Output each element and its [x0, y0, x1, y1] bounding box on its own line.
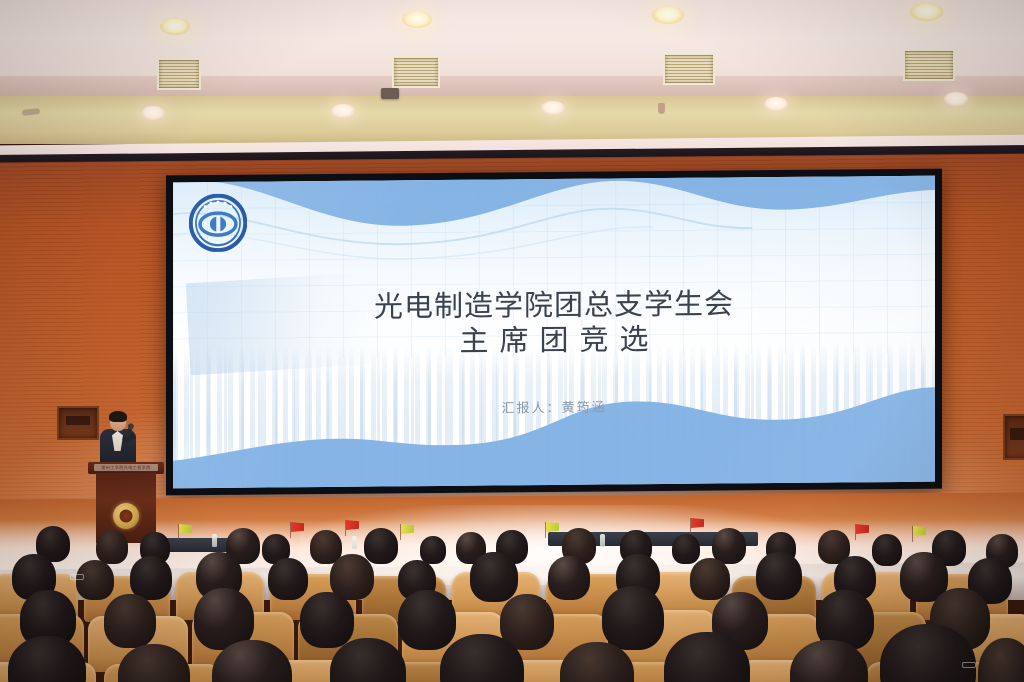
audience-head: [268, 558, 308, 600]
audience-head: [76, 560, 114, 600]
lectern-nameplate: 常州工学院光电工程学院: [94, 464, 158, 471]
audience-head: [672, 534, 700, 564]
decorative-flag: [178, 524, 192, 540]
flag-cloth-red: [291, 522, 304, 532]
water-bottle: [212, 534, 217, 547]
presenter-hair: [109, 411, 127, 422]
wall-panel-right: [1003, 414, 1024, 460]
flag-pole: [912, 526, 913, 542]
audience-head: [602, 586, 664, 650]
decorative-flag: [545, 522, 559, 538]
flag-cloth-yellow: [913, 526, 926, 536]
eyeglasses-icon: [962, 662, 976, 668]
audience-head: [690, 558, 730, 600]
flag-cloth-yellow: [401, 524, 414, 534]
ceiling-cove-shadow: [0, 76, 1024, 98]
decorative-flag: [912, 526, 926, 542]
decorative-flag: [400, 524, 414, 540]
ceiling-downlight: [160, 18, 190, 35]
wall-panel-left: [57, 406, 99, 440]
ceiling-downlight: [652, 6, 684, 24]
ceiling-sprinkler: [658, 103, 665, 114]
ceiling-downlight: [402, 11, 432, 28]
audience-head: [364, 528, 398, 564]
ceiling-downlight: [764, 97, 788, 111]
flag-pole: [178, 524, 179, 540]
audience-head: [96, 530, 128, 564]
decorative-flag: [345, 520, 359, 536]
eyeglasses-icon: [70, 574, 84, 580]
stage-table: [160, 538, 230, 552]
ceiling-downlight: [141, 106, 165, 120]
projection-screen[interactable]: 光电制造学院团总支学生会 主席团竞选 汇报人：黄筠涵: [173, 176, 935, 489]
audience-head: [104, 594, 156, 648]
decorative-flag: [290, 522, 304, 538]
slide-title-line-2: 主席团竞选: [173, 319, 935, 363]
university-emblem-icon: [189, 194, 247, 253]
ceiling-downlight: [541, 101, 565, 115]
audience-head: [470, 552, 518, 602]
flag-pole: [855, 524, 856, 540]
audience-head: [872, 534, 902, 566]
audience-head: [398, 590, 456, 650]
water-bottle: [352, 536, 357, 549]
ceiling-downlight: [910, 3, 943, 21]
flag-cloth-yellow: [546, 522, 559, 532]
slide-wave-top-decoration: [173, 176, 935, 305]
wall-panel-right-inset: [1010, 428, 1024, 441]
ceiling-air-vent: [663, 53, 715, 85]
audience-head: [130, 556, 172, 600]
flag-pole: [290, 522, 291, 538]
wall-panel-left-inset: [66, 416, 90, 425]
audience-head: [300, 592, 354, 648]
ceiling-air-vent: [392, 56, 440, 88]
audience-head: [756, 552, 802, 600]
flag-pole: [690, 518, 691, 534]
flag-pole: [545, 522, 546, 538]
ceiling-air-vent: [157, 58, 201, 90]
ceiling-air-vent: [903, 49, 955, 81]
flag-pole: [400, 524, 401, 540]
flag-cloth-red: [856, 524, 869, 534]
decorative-flag: [855, 524, 869, 540]
flag-pole: [345, 520, 346, 536]
ceiling-downlight: [944, 92, 968, 106]
slide-title-block: 光电制造学院团总支学生会 主席团竞选: [173, 286, 935, 364]
auditorium-scene: 光电制造学院团总支学生会 主席团竞选 汇报人：黄筠涵 常州工学院光电工程学院: [0, 0, 1024, 682]
ceiling-speaker-box: [381, 88, 399, 99]
flag-cloth-yellow: [179, 524, 192, 534]
flag-cloth-red: [691, 518, 704, 528]
ceiling-downlight: [331, 104, 355, 118]
projection-screen-frame: 光电制造学院团总支学生会 主席团竞选 汇报人：黄筠涵: [166, 169, 942, 496]
audience-head: [548, 556, 590, 600]
flag-cloth-red: [346, 520, 359, 530]
water-bottle: [600, 534, 605, 547]
audience-area: [0, 510, 1024, 682]
audience-head: [420, 536, 446, 564]
decorative-flag: [690, 518, 704, 534]
